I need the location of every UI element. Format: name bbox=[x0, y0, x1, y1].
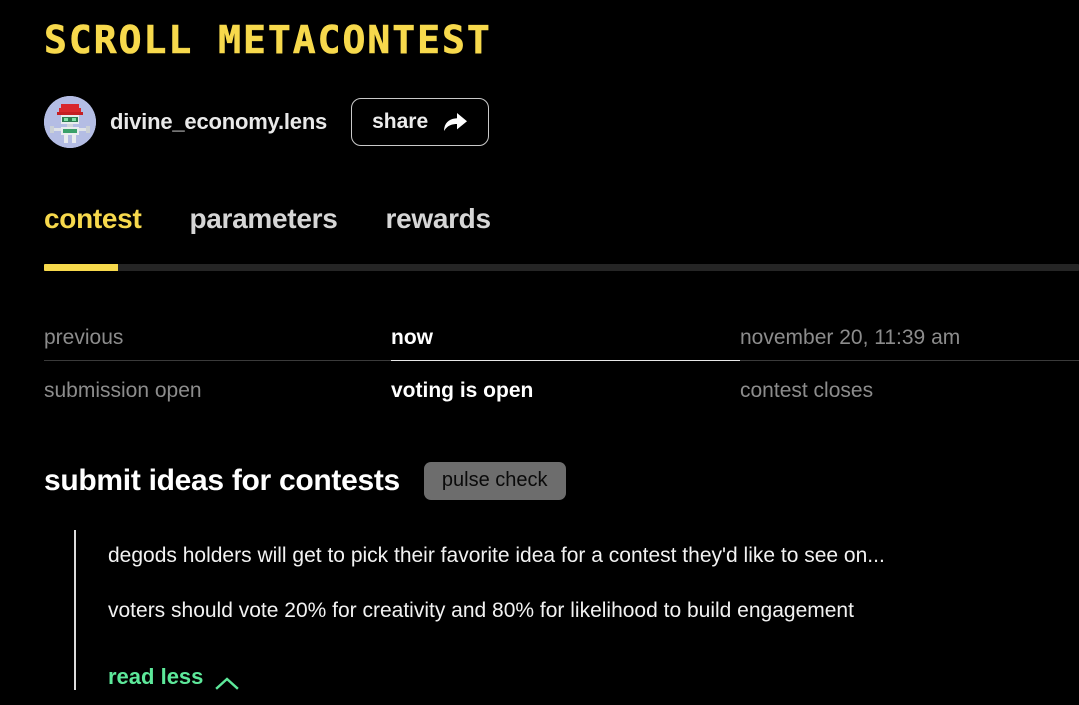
share-arrow-icon bbox=[442, 110, 468, 134]
timeline-status-close: contest closes bbox=[740, 361, 1079, 407]
page-title: scroll metacontest bbox=[44, 14, 492, 66]
share-button-label: share bbox=[372, 110, 428, 134]
section-title: submit ideas for contests bbox=[44, 464, 400, 498]
read-less-toggle[interactable]: read less bbox=[108, 664, 239, 690]
tab-list: contest parameters rewards bbox=[44, 203, 491, 235]
user-handle[interactable]: divine_economy.lens bbox=[110, 109, 327, 135]
timeline-column-now: now voting is open bbox=[391, 322, 740, 407]
tab-progress-bar bbox=[44, 264, 1079, 271]
chevron-up-icon bbox=[215, 670, 239, 684]
timeline-status-now: voting is open bbox=[391, 361, 740, 407]
timeline-status-previous: submission open bbox=[44, 361, 391, 407]
read-less-label: read less bbox=[108, 664, 203, 690]
tab-progress-fill bbox=[44, 264, 118, 271]
section-header: submit ideas for contests pulse check bbox=[44, 462, 566, 500]
status-badge: pulse check bbox=[424, 462, 566, 500]
timeline-label-previous: previous bbox=[44, 322, 391, 360]
tab-parameters[interactable]: parameters bbox=[189, 203, 337, 235]
prompt-quote-block: degods holders will get to pick their fa… bbox=[74, 530, 1034, 690]
contest-timeline: previous submission open now voting is o… bbox=[44, 322, 1079, 407]
tab-contest[interactable]: contest bbox=[44, 203, 141, 235]
timeline-column-previous: previous submission open bbox=[44, 322, 391, 407]
tab-rewards[interactable]: rewards bbox=[385, 203, 490, 235]
timeline-label-close-date: november 20, 11:39 am bbox=[740, 322, 1079, 360]
quote-line: voters should vote 20% for creativity an… bbox=[108, 596, 1034, 626]
timeline-label-now: now bbox=[391, 322, 740, 360]
quote-line: degods holders will get to pick their fa… bbox=[108, 541, 1034, 571]
timeline-column-close: november 20, 11:39 am contest closes bbox=[740, 322, 1079, 407]
contest-page: scroll metacontest bbox=[0, 0, 1079, 705]
share-button[interactable]: share bbox=[351, 98, 489, 146]
avatar[interactable] bbox=[44, 96, 96, 148]
identity-row: divine_economy.lens share bbox=[44, 96, 489, 148]
